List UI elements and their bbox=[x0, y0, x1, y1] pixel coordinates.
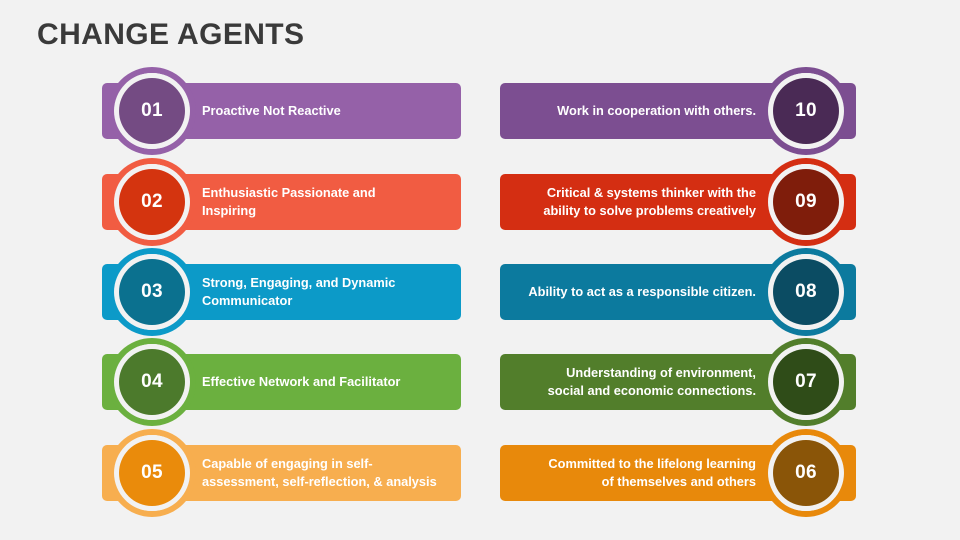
item-label-01: Proactive Not Reactive bbox=[202, 83, 447, 139]
item-label-08: Ability to act as a responsible citizen. bbox=[514, 264, 756, 320]
item-number-06: 06 bbox=[795, 462, 817, 484]
item-label-06: Committed to the lifelong learning of th… bbox=[514, 445, 756, 501]
item-badge-04[interactable]: 04 bbox=[108, 338, 196, 426]
item-number-09: 09 bbox=[795, 191, 817, 213]
item-number-08: 08 bbox=[795, 281, 817, 303]
item-row-06[interactable]: Committed to the lifelong learning of th… bbox=[500, 445, 856, 501]
item-number-04: 04 bbox=[141, 371, 163, 393]
item-number-02: 02 bbox=[141, 191, 163, 213]
item-row-09[interactable]: Critical & systems thinker with the abil… bbox=[500, 174, 856, 230]
item-badge-10[interactable]: 10 bbox=[762, 67, 850, 155]
badge-disc-icon: 04 bbox=[119, 349, 185, 415]
item-row-02[interactable]: Enthusiastic Passionate and Inspiring02 bbox=[102, 174, 461, 230]
item-badge-06[interactable]: 06 bbox=[762, 429, 850, 517]
item-badge-08[interactable]: 08 bbox=[762, 248, 850, 336]
item-label-07: Understanding of environment, social and… bbox=[514, 354, 756, 410]
item-label-02: Enthusiastic Passionate and Inspiring bbox=[202, 174, 447, 230]
item-row-04[interactable]: Effective Network and Facilitator04 bbox=[102, 354, 461, 410]
badge-disc-icon: 02 bbox=[119, 169, 185, 235]
badge-disc-icon: 08 bbox=[773, 259, 839, 325]
item-row-05[interactable]: Capable of engaging in self- assessment,… bbox=[102, 445, 461, 501]
item-label-10: Work in cooperation with others. bbox=[514, 83, 756, 139]
item-label-04: Effective Network and Facilitator bbox=[202, 354, 447, 410]
item-number-01: 01 bbox=[141, 100, 163, 122]
badge-disc-icon: 01 bbox=[119, 78, 185, 144]
item-number-10: 10 bbox=[795, 100, 817, 122]
item-badge-05[interactable]: 05 bbox=[108, 429, 196, 517]
item-badge-03[interactable]: 03 bbox=[108, 248, 196, 336]
badge-disc-icon: 05 bbox=[119, 440, 185, 506]
badge-disc-icon: 06 bbox=[773, 440, 839, 506]
page-title: CHANGE AGENTS bbox=[37, 18, 304, 52]
item-label-09: Critical & systems thinker with the abil… bbox=[514, 174, 756, 230]
slide-canvas: CHANGE AGENTS Proactive Not Reactive01En… bbox=[0, 0, 960, 540]
item-row-10[interactable]: Work in cooperation with others.10 bbox=[500, 83, 856, 139]
item-label-05: Capable of engaging in self- assessment,… bbox=[202, 445, 447, 501]
item-badge-02[interactable]: 02 bbox=[108, 158, 196, 246]
item-badge-09[interactable]: 09 bbox=[762, 158, 850, 246]
item-row-07[interactable]: Understanding of environment, social and… bbox=[500, 354, 856, 410]
item-number-03: 03 bbox=[141, 281, 163, 303]
badge-disc-icon: 03 bbox=[119, 259, 185, 325]
item-badge-07[interactable]: 07 bbox=[762, 338, 850, 426]
item-row-08[interactable]: Ability to act as a responsible citizen.… bbox=[500, 264, 856, 320]
item-label-03: Strong, Engaging, and Dynamic Communicat… bbox=[202, 264, 447, 320]
item-row-01[interactable]: Proactive Not Reactive01 bbox=[102, 83, 461, 139]
badge-disc-icon: 10 bbox=[773, 78, 839, 144]
badge-disc-icon: 07 bbox=[773, 349, 839, 415]
item-number-05: 05 bbox=[141, 462, 163, 484]
item-badge-01[interactable]: 01 bbox=[108, 67, 196, 155]
badge-disc-icon: 09 bbox=[773, 169, 839, 235]
item-row-03[interactable]: Strong, Engaging, and Dynamic Communicat… bbox=[102, 264, 461, 320]
item-number-07: 07 bbox=[795, 371, 817, 393]
